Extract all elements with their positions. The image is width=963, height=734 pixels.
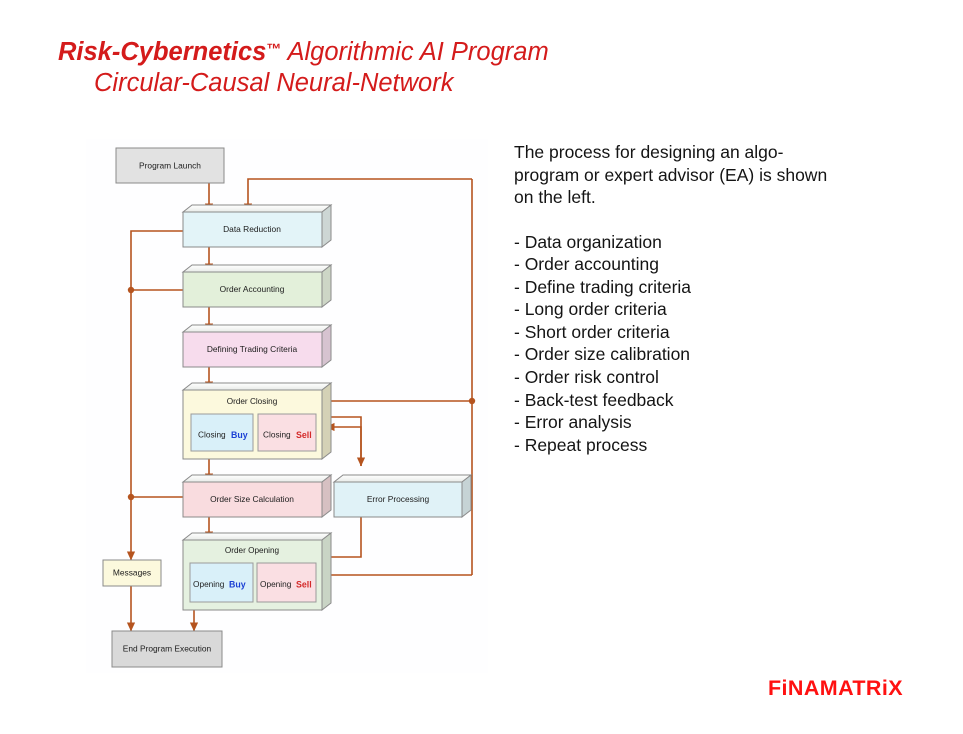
node-closing-sell[interactable]: Closing Sell (258, 414, 316, 451)
title-line-2: Circular-Causal Neural-Network (58, 68, 758, 99)
flowchart-svg: Program Launch Data Reduction Order Acco… (86, 139, 488, 673)
title-brand-mark: Risk-Cybernetics (58, 38, 266, 66)
node-order-size-calculation-label: Order Size Calculation (210, 494, 294, 504)
list-item: - Data organization (514, 231, 844, 254)
intro-paragraph: The process for designing an algo-progra… (514, 141, 844, 209)
node-opening-buy-word: Opening (193, 579, 225, 589)
node-order-closing[interactable]: Order Closing Closing Buy Closing Sell (183, 383, 331, 459)
node-messages[interactable]: Messages (103, 560, 161, 586)
node-opening-sell-bold: Sell (296, 579, 312, 589)
node-program-launch-label: Program Launch (139, 161, 201, 171)
node-defining-trading-criteria[interactable]: Defining Trading Criteria (183, 325, 331, 367)
node-closing-buy-word: Closing (198, 430, 226, 440)
feature-list: - Data organization - Order accounting -… (514, 231, 844, 457)
title-line-1-rest: Algorithmic AI Program (281, 38, 548, 66)
list-item: - Define trading criteria (514, 276, 844, 299)
node-opening-buy-bold: Buy (229, 579, 246, 589)
list-item: - Order accounting (514, 253, 844, 276)
list-item: - Back-test feedback (514, 389, 844, 412)
brand-logo: FiNAMATRiX (768, 676, 903, 701)
node-error-processing-label: Error Processing (367, 494, 430, 504)
node-order-opening-label: Order Opening (225, 546, 280, 555)
node-order-size-calculation[interactable]: Order Size Calculation (183, 475, 331, 517)
node-opening-buy[interactable]: Opening Buy (190, 563, 253, 602)
list-item: - Repeat process (514, 434, 844, 457)
node-end-program-execution-label: End Program Execution (123, 644, 212, 654)
node-end-program-execution[interactable]: End Program Execution (112, 631, 222, 667)
node-order-accounting[interactable]: Order Accounting (183, 265, 331, 307)
node-order-opening[interactable]: Order Opening Opening Buy Opening Sell (183, 533, 331, 610)
node-defining-trading-criteria-label: Defining Trading Criteria (207, 344, 298, 354)
node-closing-buy[interactable]: Closing Buy (191, 414, 253, 451)
node-opening-sell[interactable]: Opening Sell (257, 563, 316, 602)
node-messages-label: Messages (113, 568, 151, 578)
node-error-processing[interactable]: Error Processing (334, 475, 471, 517)
list-item: - Error analysis (514, 411, 844, 434)
list-item: - Long order criteria (514, 298, 844, 321)
node-data-reduction-label: Data Reduction (223, 224, 281, 234)
page-title: Risk-Cybernetics™ Algorithmic AI Program… (58, 34, 758, 99)
flowchart-diagram: Program Launch Data Reduction Order Acco… (86, 139, 488, 673)
node-order-accounting-label: Order Accounting (220, 284, 285, 294)
list-item: - Order size calibration (514, 343, 844, 366)
node-closing-sell-bold: Sell (296, 430, 312, 440)
node-opening-sell-word: Opening (260, 579, 292, 589)
trademark-icon: ™ (266, 41, 281, 58)
node-data-reduction[interactable]: Data Reduction (183, 205, 331, 247)
node-closing-sell-word: Closing (263, 430, 291, 440)
list-item: - Short order criteria (514, 321, 844, 344)
list-item: - Order risk control (514, 366, 844, 389)
explanation-panel: The process for designing an algo-progra… (514, 141, 844, 456)
node-program-launch[interactable]: Program Launch (116, 148, 224, 183)
node-closing-buy-bold: Buy (231, 430, 248, 440)
title-line-1: Risk-Cybernetics™ Algorithmic AI Program (58, 34, 758, 68)
node-order-closing-label: Order Closing (227, 397, 278, 406)
